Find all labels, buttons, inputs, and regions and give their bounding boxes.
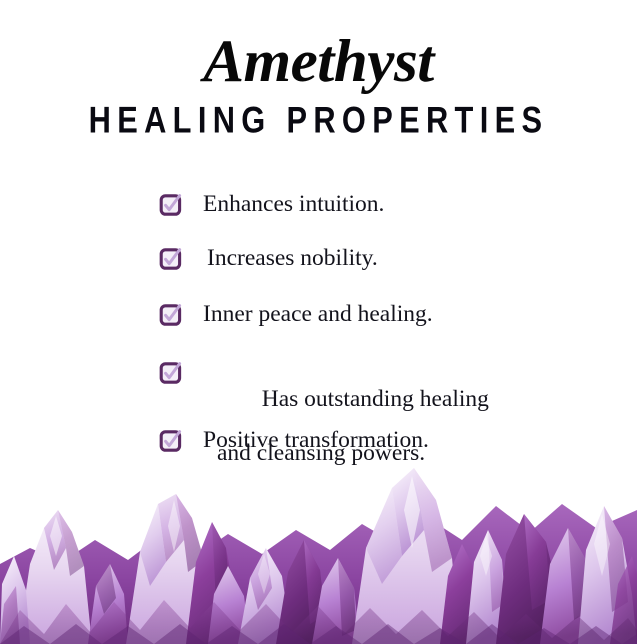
poster-canvas: Amethyst HEALING PROPERTIES Enhances int…: [0, 0, 637, 644]
list-item[interactable]: Enhances intuition.: [0, 191, 637, 225]
list-item[interactable]: Increases nobility.: [0, 245, 637, 279]
header: Amethyst HEALING PROPERTIES: [0, 0, 637, 137]
page-title: Amethyst: [0, 31, 637, 91]
checked-checkbox-icon[interactable]: [159, 303, 183, 327]
list-item-label: Enhances intuition.: [203, 191, 384, 217]
list-item-label: Inner peace and healing.: [203, 301, 433, 327]
checked-checkbox-icon[interactable]: [159, 361, 183, 385]
amethyst-crystal-cluster-photo: [0, 444, 637, 644]
page-subtitle: HEALING PROPERTIES: [38, 102, 599, 139]
checked-checkbox-icon[interactable]: [159, 247, 183, 271]
checked-checkbox-icon[interactable]: [159, 193, 183, 217]
crystal-illustration: [0, 444, 637, 644]
list-item[interactable]: Inner peace and healing.: [0, 301, 637, 335]
list-item-label-line1: Has outstanding healing: [262, 386, 489, 412]
list-item-label: Increases nobility.: [207, 245, 378, 271]
